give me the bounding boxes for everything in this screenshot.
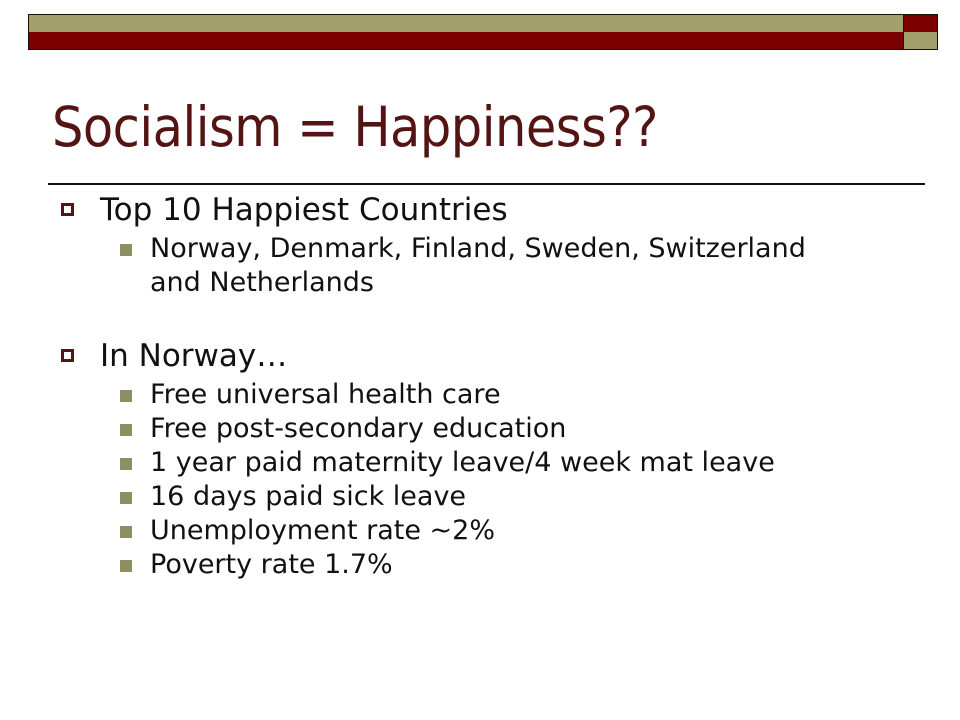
banner-main-bar [28, 14, 904, 50]
title-divider-rule [48, 183, 925, 185]
filled-square-bullet-icon [120, 424, 132, 436]
section-spacer [0, 300, 960, 336]
banner-main-maroon-band [29, 32, 903, 49]
banner-cap-khaki-block [904, 32, 937, 49]
bullet-level2: Poverty rate 1.7% [0, 548, 960, 582]
filled-square-bullet-icon [120, 458, 132, 470]
bullet-level2-label: 1 year paid maternity leave/4 week mat l… [150, 446, 850, 480]
filled-square-bullet-icon [120, 390, 132, 402]
banner-cap-maroon-block [904, 15, 937, 32]
bullet-level1-label: Top 10 Happiest Countries [100, 192, 508, 228]
bullet-level2-label: Free post-secondary education [150, 412, 850, 446]
bullet-level2: Free universal health care [0, 378, 960, 412]
bullet-level2: Norway, Denmark, Finland, Sweden, Switze… [0, 232, 960, 300]
banner-main-khaki-band [29, 15, 903, 32]
filled-square-bullet-icon [120, 560, 132, 572]
bullet-level2-label: 16 days paid sick leave [150, 480, 850, 514]
slide-header-banner [28, 14, 938, 50]
bullet-level1: In Norway… [0, 336, 960, 376]
bullet-level2-label: Poverty rate 1.7% [150, 548, 850, 582]
bullet-level2: 16 days paid sick leave [0, 480, 960, 514]
bullet-level2-label: Unemployment rate ~2% [150, 514, 850, 548]
slide-title: Socialism = Happiness?? [52, 96, 912, 158]
bullet-level2: 1 year paid maternity leave/4 week mat l… [0, 446, 960, 480]
bullet-level2: Unemployment rate ~2% [0, 514, 960, 548]
filled-square-bullet-icon [120, 492, 132, 504]
filled-square-bullet-icon [120, 526, 132, 538]
bullet-level2-label: Norway, Denmark, Finland, Sweden, Switze… [150, 232, 850, 300]
bullet-level2-label: Free universal health care [150, 378, 850, 412]
filled-square-bullet-icon [120, 244, 132, 256]
bullet-level1: Top 10 Happiest Countries [0, 190, 960, 230]
slide-body: Top 10 Happiest Countries Norway, Denmar… [0, 190, 960, 582]
bullet-level2: Free post-secondary education [0, 412, 960, 446]
bullet-level1-label: In Norway… [100, 338, 287, 374]
presentation-slide: Socialism = Happiness?? Top 10 Happiest … [0, 0, 960, 720]
hollow-square-bullet-icon [61, 349, 74, 362]
hollow-square-bullet-icon [61, 203, 74, 216]
banner-end-cap [904, 14, 938, 50]
